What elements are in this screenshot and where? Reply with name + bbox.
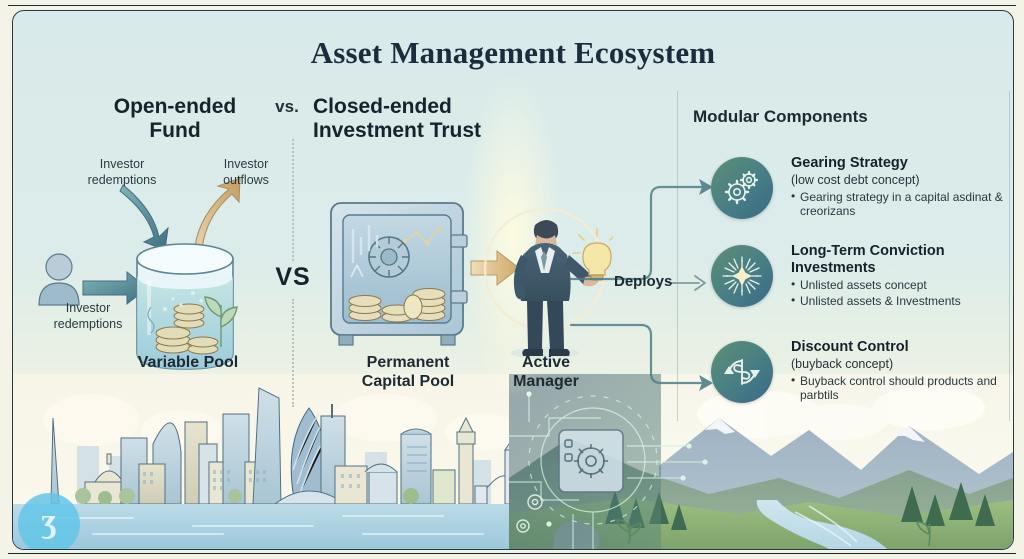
panel-divider-right xyxy=(1009,91,1010,421)
caption-variable-pool: Variable Pool xyxy=(108,353,268,372)
label-investor-outflows: Investor outflows xyxy=(198,157,294,188)
gears-icon xyxy=(711,157,773,219)
label-investor-redemptions-top: Investor redemptions xyxy=(68,157,176,188)
module-subtitle: (buyback concept) xyxy=(791,357,1009,372)
module-bullets: Gearing strategy in a capital asdinat & … xyxy=(791,190,1009,219)
module-title: Discount Control xyxy=(791,339,1009,356)
heading-closed-ended-trust: Closed-ended Investment Trust xyxy=(313,95,533,144)
module-bullets: Buyback control should products and parb… xyxy=(791,374,1009,403)
module-text: Gearing Strategy (low cost debt concept)… xyxy=(791,155,1009,219)
outer-rule-bottom xyxy=(8,553,1016,554)
module-title: Gearing Strategy xyxy=(791,155,1009,172)
investor-person-icon xyxy=(39,254,79,305)
infographic-frame: Asset Management Ecosystem Open-ended Fu… xyxy=(12,10,1014,550)
safe-vault-icon xyxy=(331,203,467,345)
heading-closed-ended-trust-text: Closed-ended Investment Trust xyxy=(313,95,481,142)
london-skyline-illustration xyxy=(13,374,533,549)
page-title: Asset Management Ecosystem xyxy=(13,35,1013,71)
dollar-refresh-icon xyxy=(711,341,773,403)
module-bullet: Unlisted assets & Investments xyxy=(791,294,1009,309)
module-text: Discount Control (buyback concept) Buyba… xyxy=(791,339,1009,403)
sparkle-burst-icon xyxy=(711,245,773,307)
heading-modular-components: Modular Components xyxy=(693,107,1013,127)
module-bullet: Gearing strategy in a capital asdinat & … xyxy=(791,190,1009,219)
heading-open-ended-fund: Open-ended Fund xyxy=(85,95,265,144)
module-bullet: Unlisted assets concept xyxy=(791,278,1009,293)
outer-rule-top xyxy=(8,5,1016,6)
module-title: Long-Term Conviction Investments xyxy=(791,243,1009,276)
connector-label-deploys: Deploys xyxy=(614,273,672,290)
watermark-glyph: ʒ xyxy=(41,505,57,539)
heading-vs-small: vs. xyxy=(265,97,309,117)
module-subtitle: (low cost debt concept) xyxy=(791,173,1009,188)
caption-permanent-capital-pool: Permanent Capital Pool xyxy=(333,353,483,391)
infographic-canvas: Asset Management Ecosystem Open-ended Fu… xyxy=(0,0,1024,559)
brand-watermark-logo: ʒ xyxy=(18,493,80,550)
heading-open-ended-fund-text: Open-ended Fund xyxy=(114,95,237,142)
water-tank-icon xyxy=(137,244,237,369)
module-text: Long-Term Conviction Investments Unliste… xyxy=(791,243,1009,308)
module-bullet: Buyback control should products and parb… xyxy=(791,374,1009,403)
label-investor-redemptions-bottom: Investor redemptions xyxy=(33,301,143,332)
module-bullets: Unlisted assets concept Unlisted assets … xyxy=(791,278,1009,308)
